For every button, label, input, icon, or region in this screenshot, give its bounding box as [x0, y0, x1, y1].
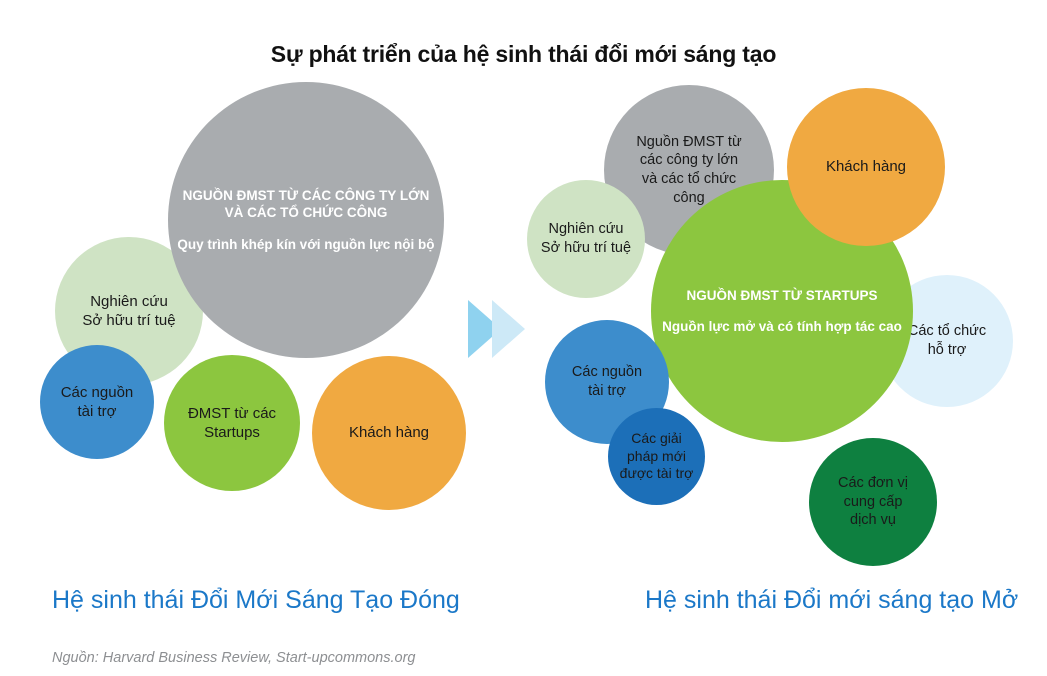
left-core-subtext: Quy trình khép kín với nguồn lực nội bộ [168, 236, 444, 253]
left-bubble-customers-label: Khách hàng [312, 423, 466, 442]
right-bubble-funded-new-solutions: Các giải pháp mới được tài trợ [608, 408, 705, 505]
left-bubble-funding-sources: Các nguồn tài trợ [40, 345, 154, 459]
caption-open-ecosystem: Hệ sinh thái Đổi mới sáng tạo Mở [645, 586, 1018, 615]
right-bubble-funded-new-solutions-label: Các giải pháp mới được tài trợ [608, 430, 705, 484]
left-bubble-startup-innovation-label: ĐMST từ các Startups [164, 404, 300, 442]
right-core-subtext: Nguồn lực mở và có tính hợp tác cao [651, 318, 913, 335]
left-bubble-customers: Khách hàng [312, 356, 466, 510]
right-bubble-funding-sources-label: Các nguồn tài trợ [545, 363, 669, 400]
right-bubble-customers: Khách hàng [787, 88, 945, 246]
left-bubble-funding-sources-label: Các nguồn tài trợ [40, 383, 154, 421]
left-bubble-core: NGUỒN ĐMST TỪ CÁC CÔNG TY LỚN VÀ CÁC TỔ … [168, 82, 444, 358]
source-note: Nguồn: Harvard Business Review, Start-up… [52, 650, 415, 666]
right-bubble-service-providers: Các đơn vị cung cấp dịch vụ [809, 438, 937, 566]
caption-closed-ecosystem: Hệ sinh thái Đổi Mới Sáng Tạo Đóng [52, 586, 460, 615]
left-bubble-research-ip-label: Nghiên cứu Sở hữu trí tuệ [55, 292, 203, 330]
right-bubble-customers-label: Khách hàng [787, 157, 945, 176]
left-core-headline: NGUỒN ĐMST TỪ CÁC CÔNG TY LỚN VÀ CÁC TỔ … [168, 187, 444, 222]
diagram-stage: Nghiên cứu Sở hữu trí tuệ ĐMST từ các St… [0, 0, 1047, 676]
right-bubble-research-ip: Nghiên cứu Sở hữu trí tuệ [527, 180, 645, 298]
right-bubble-research-ip-label: Nghiên cứu Sở hữu trí tuệ [527, 220, 645, 257]
right-bubble-service-providers-label: Các đơn vị cung cấp dịch vụ [809, 474, 937, 530]
chevron-right-icon-front [492, 300, 525, 358]
right-core-headline: NGUỒN ĐMST TỪ STARTUPS [651, 287, 913, 304]
left-bubble-startup-innovation: ĐMST từ các Startups [164, 355, 300, 491]
transition-arrow [466, 296, 536, 362]
